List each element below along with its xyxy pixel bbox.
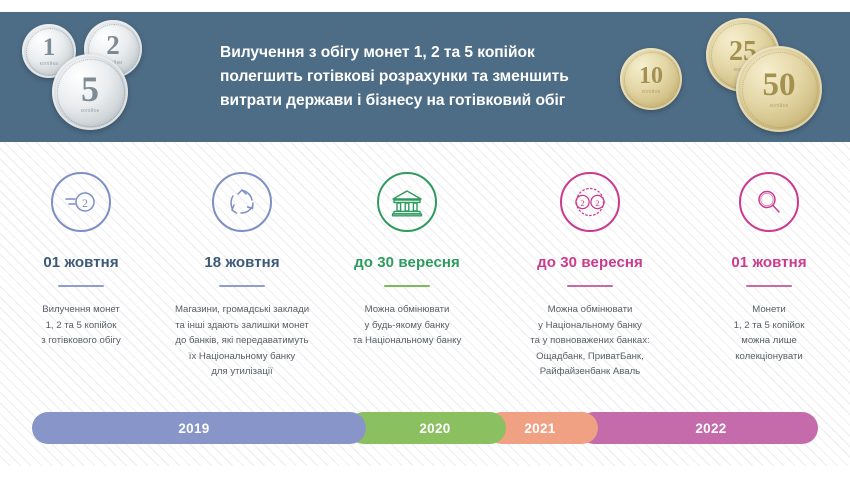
column-body-text: Можна обмінювати у будь-якому банку та Н… [353, 302, 462, 349]
column-body-text: Магазини, громадські заклади та інші зда… [175, 302, 309, 380]
column-date: 01 жовтня [43, 254, 118, 271]
coin-value: 2 [106, 32, 120, 59]
coin-10-kopiyok: 10 копійок [620, 48, 682, 110]
recycle-icon [212, 172, 272, 232]
coin-value: 5 [81, 71, 99, 107]
svg-text:2: 2 [595, 198, 599, 208]
column-date: до 30 вересня [354, 254, 460, 271]
year-segment-2022: 2022 [578, 412, 818, 444]
coin-unit: копійок [770, 103, 789, 109]
timeline-column-5: 01 жовтня Монети 1, 2 та 5 копійок можна… [688, 172, 850, 380]
svg-text:2: 2 [580, 198, 584, 208]
column-body-text: Можна обмінювати у Національному банку т… [530, 302, 649, 380]
coin-withdrawal-icon: 2 [51, 172, 111, 232]
coin-50-kopiyok: 50 копійок [736, 46, 822, 132]
timeline-column-1: 2 01 жовтня Вилучення монет 1, 2 та 5 ко… [0, 172, 162, 380]
timeline-column-3: до 30 вересня Можна обмінювати у будь-як… [322, 172, 492, 380]
top-white-band [0, 0, 850, 12]
column-body-text: Вилучення монет 1, 2 та 5 копійок з готі… [41, 302, 121, 349]
year-label: 2021 [524, 421, 555, 436]
year-label: 2019 [178, 421, 209, 436]
column-divider [58, 285, 104, 287]
header-banner: 1 копійка 2 копійки 5 копійок Вилучення … [0, 12, 850, 142]
column-date: 01 жовтня [731, 254, 806, 271]
silver-coins-group: 1 копійка 2 копійки 5 копійок [14, 18, 189, 138]
coin-unit: копійка [40, 61, 59, 67]
timeline-columns: 2 01 жовтня Вилучення монет 1, 2 та 5 ко… [0, 172, 850, 380]
timeline-column-2: 18 жовтня Магазини, громадські заклади т… [162, 172, 322, 380]
header-title: Вилучення з обігу монет 1, 2 та 5 копійо… [220, 41, 640, 112]
year-timeline-bar: 2022 2021 2020 2019 [32, 412, 818, 444]
timeline-column-4: 2 2 до 30 вересня Можна обмінювати у Нац… [492, 172, 688, 380]
coin-unit: копійок [642, 89, 661, 95]
year-segment-2020: 2020 [348, 412, 506, 444]
svg-text:2: 2 [82, 196, 88, 210]
coin-value: 1 [43, 35, 56, 60]
column-date: 18 жовтня [204, 254, 279, 271]
coin-value: 10 [639, 64, 663, 88]
column-date: до 30 вересня [537, 254, 643, 271]
gold-coins-group: 10 копійок 25 копійок 50 копійок [614, 16, 842, 138]
column-body-text: Монети 1, 2 та 5 копійок можна лише коле… [734, 302, 805, 364]
column-divider [384, 285, 430, 287]
column-divider [219, 285, 265, 287]
column-divider [567, 285, 613, 287]
coin-value: 50 [763, 69, 796, 102]
year-label: 2020 [419, 421, 450, 436]
coin-5-kopiyok: 5 копійок [52, 54, 128, 130]
coin-exchange-icon: 2 2 [560, 172, 620, 232]
year-segment-2019: 2019 [32, 412, 366, 444]
coin-unit: копійок [81, 108, 100, 114]
bottom-white-band [0, 466, 850, 478]
infographic-page: 1 копійка 2 копійки 5 копійок Вилучення … [0, 0, 850, 478]
bank-building-icon [377, 172, 437, 232]
year-label: 2022 [695, 421, 726, 436]
magnifier-icon [739, 172, 799, 232]
column-divider [746, 285, 792, 287]
